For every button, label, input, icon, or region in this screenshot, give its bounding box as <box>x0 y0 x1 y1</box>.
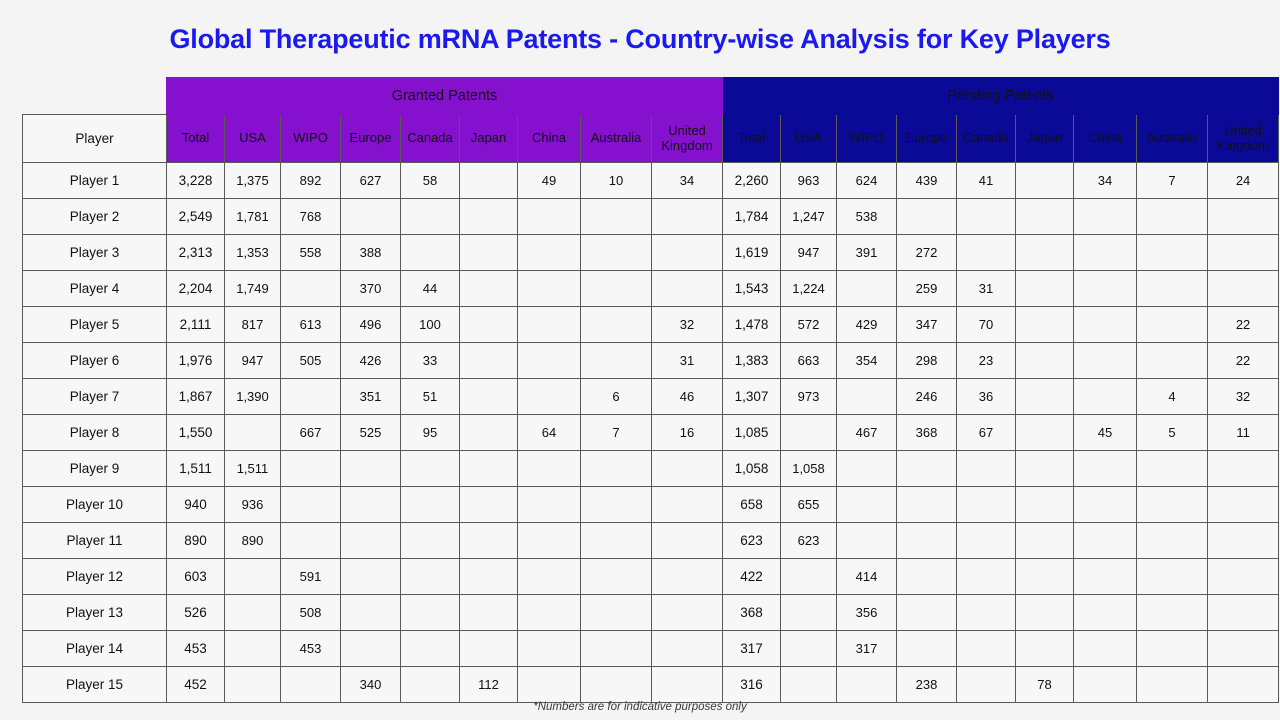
cell-granted-australia <box>581 271 652 307</box>
cell-granted-australia <box>581 451 652 487</box>
cell-granted-china <box>518 379 581 415</box>
cell-granted-europe: 426 <box>341 343 401 379</box>
table-row: Player 42,2041,749370441,5431,22425931 <box>23 271 1279 307</box>
cell-granted-wipo <box>281 487 341 523</box>
cell-pending-japan: 78 <box>1016 667 1074 703</box>
cell-pending-total: 1,058 <box>723 451 781 487</box>
cell-pending-canada: 67 <box>957 415 1016 451</box>
cell-pending-europe <box>897 631 957 667</box>
cell-granted-canada <box>401 559 460 595</box>
cell-granted-canada <box>401 523 460 559</box>
cell-granted-canada <box>401 631 460 667</box>
cell-pending-usa: 973 <box>781 379 837 415</box>
cell-pending-united-kingdom <box>1208 595 1279 631</box>
cell-granted-canada: 100 <box>401 307 460 343</box>
cell-granted-europe: 351 <box>341 379 401 415</box>
cell-granted-wipo: 558 <box>281 235 341 271</box>
table-row: Player 13526508368356 <box>23 595 1279 631</box>
cell-pending-usa: 1,224 <box>781 271 837 307</box>
cell-pending-usa: 1,247 <box>781 199 837 235</box>
row-header-player: Player 9 <box>23 451 167 487</box>
cell-granted-usa: 817 <box>225 307 281 343</box>
cell-pending-europe: 272 <box>897 235 957 271</box>
cell-pending-usa <box>781 631 837 667</box>
cell-granted-australia: 10 <box>581 163 652 199</box>
cell-pending-canada <box>957 559 1016 595</box>
cell-granted-japan <box>460 523 518 559</box>
cell-pending-wipo: 414 <box>837 559 897 595</box>
cell-pending-total: 1,543 <box>723 271 781 307</box>
row-header-player: Player 10 <box>23 487 167 523</box>
cell-granted-total: 3,228 <box>167 163 225 199</box>
cell-granted-australia <box>581 235 652 271</box>
cell-granted-japan <box>460 559 518 595</box>
cell-pending-wipo <box>837 667 897 703</box>
cell-pending-australia <box>1137 271 1208 307</box>
cell-granted-japan <box>460 451 518 487</box>
cell-granted-united-kingdom: 16 <box>652 415 723 451</box>
cell-granted-australia <box>581 199 652 235</box>
cell-pending-usa: 655 <box>781 487 837 523</box>
cell-pending-united-kingdom: 24 <box>1208 163 1279 199</box>
cell-pending-united-kingdom <box>1208 199 1279 235</box>
cell-pending-total: 317 <box>723 631 781 667</box>
cell-granted-united-kingdom <box>652 271 723 307</box>
cell-pending-europe <box>897 559 957 595</box>
cell-pending-china <box>1074 451 1137 487</box>
column-header-granted-europe: Europe <box>341 115 401 163</box>
cell-pending-australia <box>1137 199 1208 235</box>
cell-pending-total: 316 <box>723 667 781 703</box>
cell-granted-japan <box>460 235 518 271</box>
cell-pending-australia <box>1137 667 1208 703</box>
cell-granted-canada: 58 <box>401 163 460 199</box>
cell-granted-china <box>518 667 581 703</box>
cell-granted-china <box>518 559 581 595</box>
cell-granted-usa: 890 <box>225 523 281 559</box>
cell-pending-wipo: 356 <box>837 595 897 631</box>
cell-pending-europe: 298 <box>897 343 957 379</box>
cell-pending-total: 368 <box>723 595 781 631</box>
cell-pending-united-kingdom <box>1208 631 1279 667</box>
cell-pending-europe: 238 <box>897 667 957 703</box>
cell-granted-wipo <box>281 451 341 487</box>
row-header-player: Player 2 <box>23 199 167 235</box>
column-header-granted-wipo: WIPO <box>281 115 341 163</box>
cell-pending-japan <box>1016 595 1074 631</box>
cell-granted-wipo: 667 <box>281 415 341 451</box>
column-header-granted-total: Total <box>167 115 225 163</box>
cell-granted-canada <box>401 235 460 271</box>
cell-granted-total: 603 <box>167 559 225 595</box>
cell-pending-total: 2,260 <box>723 163 781 199</box>
cell-pending-china <box>1074 343 1137 379</box>
cell-granted-china <box>518 451 581 487</box>
cell-pending-japan <box>1016 379 1074 415</box>
cell-granted-australia <box>581 667 652 703</box>
cell-granted-usa: 1,375 <box>225 163 281 199</box>
cell-granted-wipo <box>281 271 341 307</box>
cell-pending-china <box>1074 271 1137 307</box>
cell-granted-united-kingdom: 31 <box>652 343 723 379</box>
cell-pending-europe: 347 <box>897 307 957 343</box>
table-row: Player 22,5491,7817681,7841,247538 <box>23 199 1279 235</box>
cell-granted-japan: 112 <box>460 667 518 703</box>
table-row: Player 32,3131,3535583881,619947391272 <box>23 235 1279 271</box>
cell-pending-total: 1,784 <box>723 199 781 235</box>
cell-pending-china <box>1074 235 1137 271</box>
cell-pending-europe: 259 <box>897 271 957 307</box>
cell-pending-china <box>1074 631 1137 667</box>
table-row: Player 14453453317317 <box>23 631 1279 667</box>
cell-pending-usa: 572 <box>781 307 837 343</box>
cell-granted-usa <box>225 595 281 631</box>
cell-pending-usa: 663 <box>781 343 837 379</box>
group-header-granted: Granted Patents <box>167 78 723 115</box>
cell-granted-total: 2,549 <box>167 199 225 235</box>
cell-granted-japan <box>460 487 518 523</box>
cell-granted-china <box>518 271 581 307</box>
column-header-pending-canada: Canada <box>957 115 1016 163</box>
cell-granted-australia: 6 <box>581 379 652 415</box>
cell-granted-total: 453 <box>167 631 225 667</box>
cell-granted-europe <box>341 559 401 595</box>
cell-granted-china: 49 <box>518 163 581 199</box>
cell-granted-europe <box>341 199 401 235</box>
cell-granted-wipo: 591 <box>281 559 341 595</box>
cell-granted-total: 890 <box>167 523 225 559</box>
cell-pending-australia <box>1137 487 1208 523</box>
cell-pending-usa <box>781 415 837 451</box>
cell-granted-japan <box>460 379 518 415</box>
cell-granted-usa: 1,749 <box>225 271 281 307</box>
cell-pending-total: 1,307 <box>723 379 781 415</box>
cell-pending-japan <box>1016 199 1074 235</box>
table-body: Player 13,2281,375892627584910342,260963… <box>23 163 1279 703</box>
cell-granted-total: 2,111 <box>167 307 225 343</box>
row-header-player: Player 1 <box>23 163 167 199</box>
cell-granted-usa: 1,390 <box>225 379 281 415</box>
cell-granted-canada <box>401 487 460 523</box>
cell-granted-wipo <box>281 667 341 703</box>
page-root: Global Therapeutic mRNA Patents - Countr… <box>0 0 1280 720</box>
cell-granted-wipo: 768 <box>281 199 341 235</box>
cell-pending-china <box>1074 595 1137 631</box>
cell-granted-japan <box>460 163 518 199</box>
cell-granted-usa: 1,353 <box>225 235 281 271</box>
table-head: Granted Patents Pending Patents PlayerTo… <box>23 78 1279 163</box>
cell-pending-japan <box>1016 307 1074 343</box>
cell-pending-australia: 5 <box>1137 415 1208 451</box>
row-header-player: Player 5 <box>23 307 167 343</box>
cell-pending-total: 658 <box>723 487 781 523</box>
cell-pending-wipo: 317 <box>837 631 897 667</box>
cell-pending-usa <box>781 559 837 595</box>
cell-granted-canada: 95 <box>401 415 460 451</box>
cell-granted-united-kingdom <box>652 559 723 595</box>
cell-granted-total: 2,313 <box>167 235 225 271</box>
cell-pending-china: 45 <box>1074 415 1137 451</box>
cell-pending-australia <box>1137 451 1208 487</box>
cell-granted-australia <box>581 343 652 379</box>
column-header-pending-europe: Europe <box>897 115 957 163</box>
cell-pending-canada: 23 <box>957 343 1016 379</box>
cell-pending-canada: 70 <box>957 307 1016 343</box>
cell-granted-australia <box>581 631 652 667</box>
column-header-granted-australia: Australia <box>581 115 652 163</box>
row-header-player: Player 14 <box>23 631 167 667</box>
cell-pending-japan <box>1016 415 1074 451</box>
cell-pending-total: 623 <box>723 523 781 559</box>
cell-granted-wipo: 508 <box>281 595 341 631</box>
cell-granted-wipo <box>281 379 341 415</box>
cell-pending-wipo: 538 <box>837 199 897 235</box>
row-header-player: Player 4 <box>23 271 167 307</box>
cell-pending-total: 1,085 <box>723 415 781 451</box>
column-header-granted-japan: Japan <box>460 115 518 163</box>
row-header-player: Player 15 <box>23 667 167 703</box>
cell-granted-united-kingdom <box>652 667 723 703</box>
cell-pending-europe <box>897 487 957 523</box>
cell-granted-australia <box>581 307 652 343</box>
cell-granted-china <box>518 487 581 523</box>
cell-granted-europe <box>341 487 401 523</box>
cell-granted-united-kingdom <box>652 235 723 271</box>
cell-granted-china <box>518 631 581 667</box>
cell-granted-total: 2,204 <box>167 271 225 307</box>
cell-pending-united-kingdom <box>1208 559 1279 595</box>
cell-pending-china <box>1074 667 1137 703</box>
cell-pending-china <box>1074 379 1137 415</box>
table-row: Player 1545234011231623878 <box>23 667 1279 703</box>
cell-pending-europe <box>897 523 957 559</box>
cell-pending-china <box>1074 307 1137 343</box>
cell-pending-canada <box>957 523 1016 559</box>
cell-pending-australia <box>1137 343 1208 379</box>
cell-pending-canada <box>957 235 1016 271</box>
cell-granted-wipo: 505 <box>281 343 341 379</box>
cell-pending-europe: 246 <box>897 379 957 415</box>
cell-granted-china <box>518 343 581 379</box>
cell-pending-canada <box>957 631 1016 667</box>
cell-granted-usa <box>225 415 281 451</box>
cell-pending-europe: 439 <box>897 163 957 199</box>
column-header-granted-united-kingdom: United Kingdom <box>652 115 723 163</box>
column-header-granted-canada: Canada <box>401 115 460 163</box>
cell-granted-china <box>518 199 581 235</box>
cell-granted-wipo: 453 <box>281 631 341 667</box>
cell-granted-total: 526 <box>167 595 225 631</box>
cell-granted-australia <box>581 487 652 523</box>
column-header-pending-united-kingdom: United Kingdom <box>1208 115 1279 163</box>
cell-granted-japan <box>460 595 518 631</box>
cell-pending-total: 1,619 <box>723 235 781 271</box>
cell-granted-europe: 496 <box>341 307 401 343</box>
patents-matrix-table: Granted Patents Pending Patents PlayerTo… <box>22 77 1279 703</box>
cell-granted-total: 940 <box>167 487 225 523</box>
cell-granted-australia <box>581 595 652 631</box>
column-header-pending-usa: USA <box>781 115 837 163</box>
column-header-row: PlayerTotalUSAWIPOEuropeCanadaJapanChina… <box>23 115 1279 163</box>
column-header-granted-usa: USA <box>225 115 281 163</box>
cell-pending-wipo: 429 <box>837 307 897 343</box>
group-header-row: Granted Patents Pending Patents <box>23 78 1279 115</box>
cell-pending-united-kingdom <box>1208 451 1279 487</box>
cell-pending-china <box>1074 523 1137 559</box>
cell-pending-wipo: 391 <box>837 235 897 271</box>
cell-granted-europe: 388 <box>341 235 401 271</box>
cell-granted-united-kingdom <box>652 523 723 559</box>
cell-pending-europe <box>897 451 957 487</box>
cell-granted-usa: 936 <box>225 487 281 523</box>
cell-pending-united-kingdom <box>1208 667 1279 703</box>
cell-pending-australia <box>1137 307 1208 343</box>
cell-granted-japan <box>460 271 518 307</box>
cell-granted-usa: 1,511 <box>225 451 281 487</box>
cell-granted-usa: 1,781 <box>225 199 281 235</box>
cell-pending-japan <box>1016 559 1074 595</box>
cell-granted-europe: 340 <box>341 667 401 703</box>
cell-pending-usa: 1,058 <box>781 451 837 487</box>
cell-granted-europe: 525 <box>341 415 401 451</box>
cell-pending-japan <box>1016 451 1074 487</box>
cell-pending-united-kingdom <box>1208 235 1279 271</box>
cell-pending-total: 1,478 <box>723 307 781 343</box>
cell-pending-europe <box>897 595 957 631</box>
cell-granted-australia <box>581 559 652 595</box>
cell-pending-usa <box>781 667 837 703</box>
cell-pending-usa: 963 <box>781 163 837 199</box>
row-header-player: Player 7 <box>23 379 167 415</box>
cell-pending-japan <box>1016 487 1074 523</box>
cell-granted-japan <box>460 631 518 667</box>
cell-pending-china: 34 <box>1074 163 1137 199</box>
cell-granted-china: 64 <box>518 415 581 451</box>
cell-pending-united-kingdom: 22 <box>1208 307 1279 343</box>
cell-pending-china <box>1074 199 1137 235</box>
row-header-player: Player 11 <box>23 523 167 559</box>
cell-granted-europe <box>341 451 401 487</box>
cell-granted-japan <box>460 307 518 343</box>
cell-granted-wipo: 892 <box>281 163 341 199</box>
row-header-player: Player 13 <box>23 595 167 631</box>
column-header-granted-china: China <box>518 115 581 163</box>
cell-granted-wipo: 613 <box>281 307 341 343</box>
cell-pending-canada <box>957 199 1016 235</box>
table-row: Player 71,8671,390351516461,307973246364… <box>23 379 1279 415</box>
cell-granted-japan <box>460 343 518 379</box>
cell-granted-australia <box>581 523 652 559</box>
cell-granted-united-kingdom <box>652 451 723 487</box>
row-header-player: Player 8 <box>23 415 167 451</box>
cell-granted-usa <box>225 559 281 595</box>
cell-granted-united-kingdom <box>652 199 723 235</box>
cell-granted-canada <box>401 451 460 487</box>
cell-pending-canada <box>957 487 1016 523</box>
cell-pending-australia: 7 <box>1137 163 1208 199</box>
cell-pending-canada <box>957 667 1016 703</box>
table-row: Player 81,55066752595647161,085467368674… <box>23 415 1279 451</box>
cell-pending-united-kingdom: 32 <box>1208 379 1279 415</box>
cell-granted-total: 452 <box>167 667 225 703</box>
cell-granted-usa <box>225 631 281 667</box>
table-row: Player 91,5111,5111,0581,058 <box>23 451 1279 487</box>
cell-pending-united-kingdom <box>1208 271 1279 307</box>
cell-granted-china <box>518 235 581 271</box>
cell-granted-canada <box>401 667 460 703</box>
cell-granted-usa: 947 <box>225 343 281 379</box>
cell-granted-europe <box>341 523 401 559</box>
cell-pending-australia <box>1137 523 1208 559</box>
column-header-pending-total: Total <box>723 115 781 163</box>
column-header-pending-japan: Japan <box>1016 115 1074 163</box>
table-row: Player 61,97694750542633311,383663354298… <box>23 343 1279 379</box>
cell-pending-canada: 31 <box>957 271 1016 307</box>
page-title: Global Therapeutic mRNA Patents - Countr… <box>0 24 1280 55</box>
cell-granted-europe <box>341 595 401 631</box>
cell-pending-wipo: 624 <box>837 163 897 199</box>
cell-granted-united-kingdom: 46 <box>652 379 723 415</box>
cell-granted-australia: 7 <box>581 415 652 451</box>
cell-pending-japan <box>1016 631 1074 667</box>
column-header-pending-china: China <box>1074 115 1137 163</box>
cell-pending-japan <box>1016 271 1074 307</box>
cell-pending-china <box>1074 559 1137 595</box>
cell-pending-wipo: 354 <box>837 343 897 379</box>
cell-granted-total: 1,511 <box>167 451 225 487</box>
cell-pending-united-kingdom: 11 <box>1208 415 1279 451</box>
cell-granted-europe: 370 <box>341 271 401 307</box>
cell-pending-japan <box>1016 343 1074 379</box>
table-row: Player 13,2281,375892627584910342,260963… <box>23 163 1279 199</box>
cell-granted-japan <box>460 415 518 451</box>
table-row: Player 12603591422414 <box>23 559 1279 595</box>
row-header-player: Player 12 <box>23 559 167 595</box>
column-header-pending-australia: Australia <box>1137 115 1208 163</box>
group-header-pending: Pending Patents <box>723 78 1279 115</box>
patents-table-container: Granted Patents Pending Patents PlayerTo… <box>22 77 1258 703</box>
cell-granted-china <box>518 595 581 631</box>
table-row: Player 10940936658655 <box>23 487 1279 523</box>
cell-pending-australia <box>1137 595 1208 631</box>
cell-pending-usa: 947 <box>781 235 837 271</box>
table-row: Player 52,111817613496100321,47857242934… <box>23 307 1279 343</box>
group-header-spacer <box>23 78 167 115</box>
row-header-player: Player 6 <box>23 343 167 379</box>
cell-granted-total: 1,550 <box>167 415 225 451</box>
cell-granted-japan <box>460 199 518 235</box>
cell-granted-canada: 51 <box>401 379 460 415</box>
cell-pending-total: 422 <box>723 559 781 595</box>
footnote: *Numbers are for indicative purposes onl… <box>0 701 1280 713</box>
cell-pending-united-kingdom <box>1208 523 1279 559</box>
cell-granted-united-kingdom <box>652 595 723 631</box>
cell-granted-canada: 33 <box>401 343 460 379</box>
cell-pending-canada <box>957 451 1016 487</box>
cell-pending-canada <box>957 595 1016 631</box>
cell-granted-canada <box>401 595 460 631</box>
cell-granted-united-kingdom <box>652 487 723 523</box>
cell-pending-japan <box>1016 523 1074 559</box>
cell-pending-usa <box>781 595 837 631</box>
cell-pending-australia <box>1137 559 1208 595</box>
cell-pending-usa: 623 <box>781 523 837 559</box>
cell-pending-wipo <box>837 487 897 523</box>
cell-granted-total: 1,976 <box>167 343 225 379</box>
cell-granted-total: 1,867 <box>167 379 225 415</box>
table-row: Player 11890890623623 <box>23 523 1279 559</box>
cell-pending-australia <box>1137 235 1208 271</box>
